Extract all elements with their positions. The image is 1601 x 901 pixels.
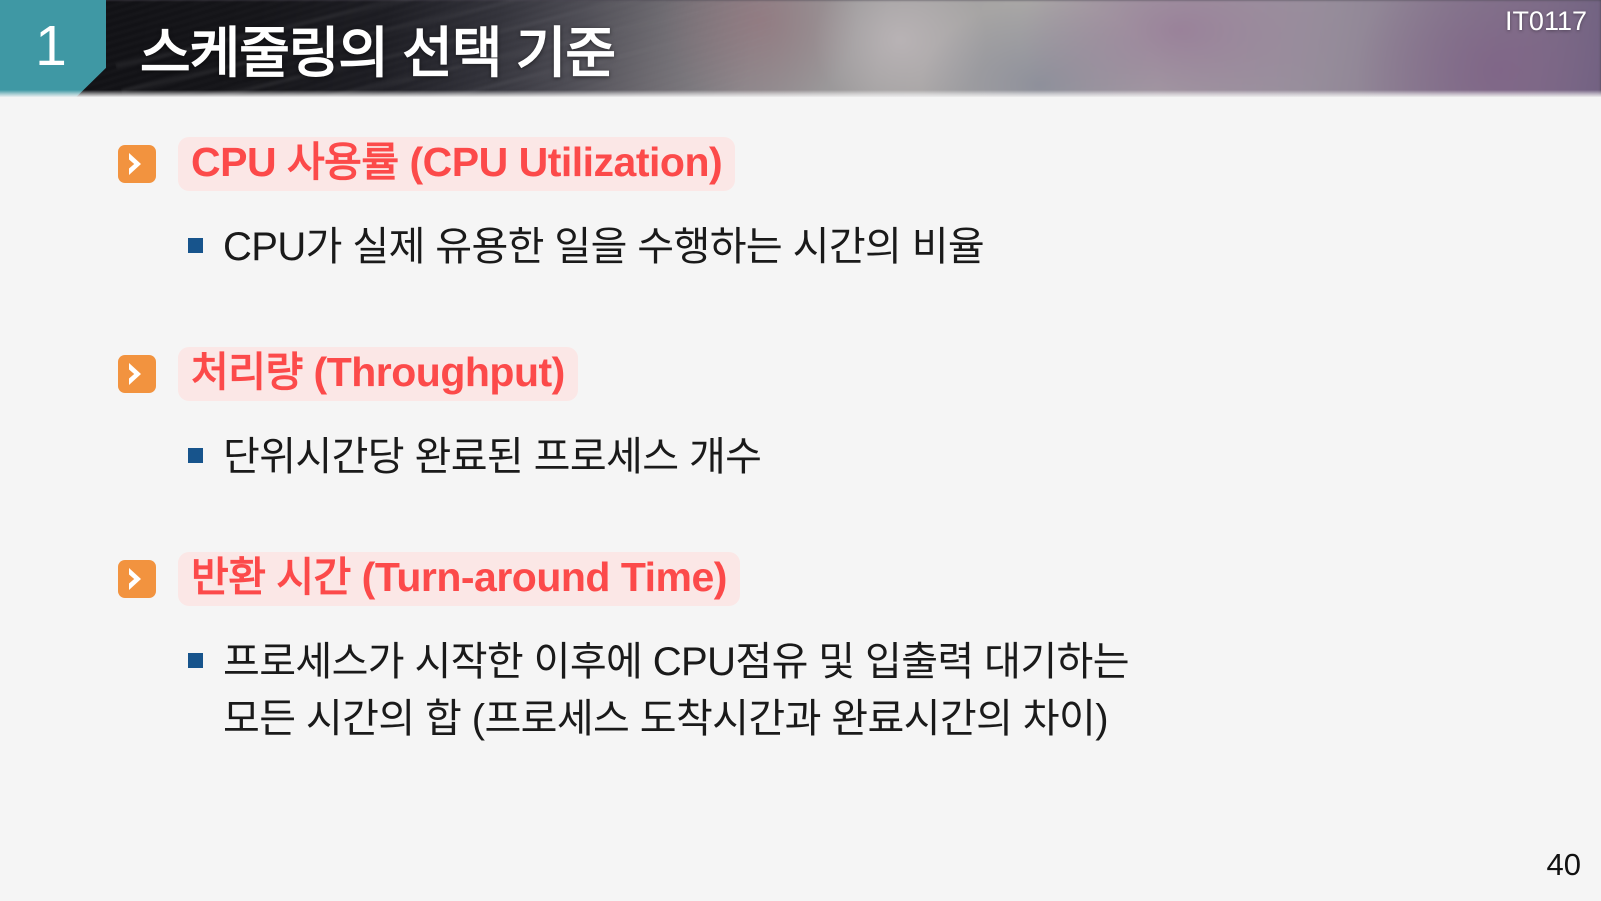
chevron-right-icon xyxy=(118,355,156,393)
course-code-label: IT0117 xyxy=(1505,6,1587,37)
section-number-badge: 1 xyxy=(0,0,106,97)
sub-bullet-row: 프로세스가 시작한 이후에 CPU점유 및 입출력 대기하는 모든 시간의 합 … xyxy=(0,634,1601,748)
sub-bullet-text: CPU가 실제 유용한 일을 수행하는 시간의 비율 xyxy=(223,219,984,276)
sub-bullet-row: 단위시간당 완료된 프로세스 개수 xyxy=(0,429,1601,486)
chevron-right-icon xyxy=(118,560,156,598)
lead-bullet-label: CPU 사용률 (CPU Utilization) xyxy=(178,137,735,191)
sub-bullet-text: 프로세스가 시작한 이후에 CPU점유 및 입출력 대기하는 모든 시간의 합 … xyxy=(223,634,1129,748)
slide-header: 1 스케줄링의 선택 기준 IT0117 xyxy=(0,0,1601,97)
square-bullet-icon xyxy=(188,238,203,253)
content-group: CPU 사용률 (CPU Utilization) CPU가 실제 유용한 일을… xyxy=(0,137,1601,276)
slide-body: CPU 사용률 (CPU Utilization) CPU가 실제 유용한 일을… xyxy=(0,97,1601,901)
lead-bullet-label: 반환 시간 (Turn-around Time) xyxy=(178,552,740,606)
lead-bullet-row: 처리량 (Throughput) xyxy=(0,347,1601,401)
sub-bullet-line: CPU가 실제 유용한 일을 수행하는 시간의 비율 xyxy=(223,225,984,269)
sub-bullet-line: 모든 시간의 합 (프로세스 도착시간과 완료시간의 차이) xyxy=(223,691,1129,748)
sub-bullet-line: 단위시간당 완료된 프로세스 개수 xyxy=(223,435,761,479)
page-title: 스케줄링의 선택 기준 xyxy=(140,8,615,88)
content-group: 처리량 (Throughput) 단위시간당 완료된 프로세스 개수 xyxy=(0,347,1601,486)
slide: 1 스케줄링의 선택 기준 IT0117 CPU 사용률 (CPU Utiliz… xyxy=(0,0,1601,901)
sub-bullet-text: 단위시간당 완료된 프로세스 개수 xyxy=(223,429,761,486)
page-number: 40 xyxy=(1547,847,1581,883)
lead-bullet-row: CPU 사용률 (CPU Utilization) xyxy=(0,137,1601,191)
lead-bullet-label: 처리량 (Throughput) xyxy=(178,347,578,401)
lead-bullet-row: 반환 시간 (Turn-around Time) xyxy=(0,552,1601,606)
square-bullet-icon xyxy=(188,448,203,463)
section-number: 1 xyxy=(35,18,67,75)
square-bullet-icon xyxy=(188,653,203,668)
header-bottom-edge xyxy=(0,90,1601,97)
sub-bullet-line: 프로세스가 시작한 이후에 CPU점유 및 입출력 대기하는 xyxy=(223,640,1129,684)
content-group: 반환 시간 (Turn-around Time) 프로세스가 시작한 이후에 C… xyxy=(0,552,1601,748)
sub-bullet-row: CPU가 실제 유용한 일을 수행하는 시간의 비율 xyxy=(0,219,1601,276)
chevron-right-icon xyxy=(118,145,156,183)
